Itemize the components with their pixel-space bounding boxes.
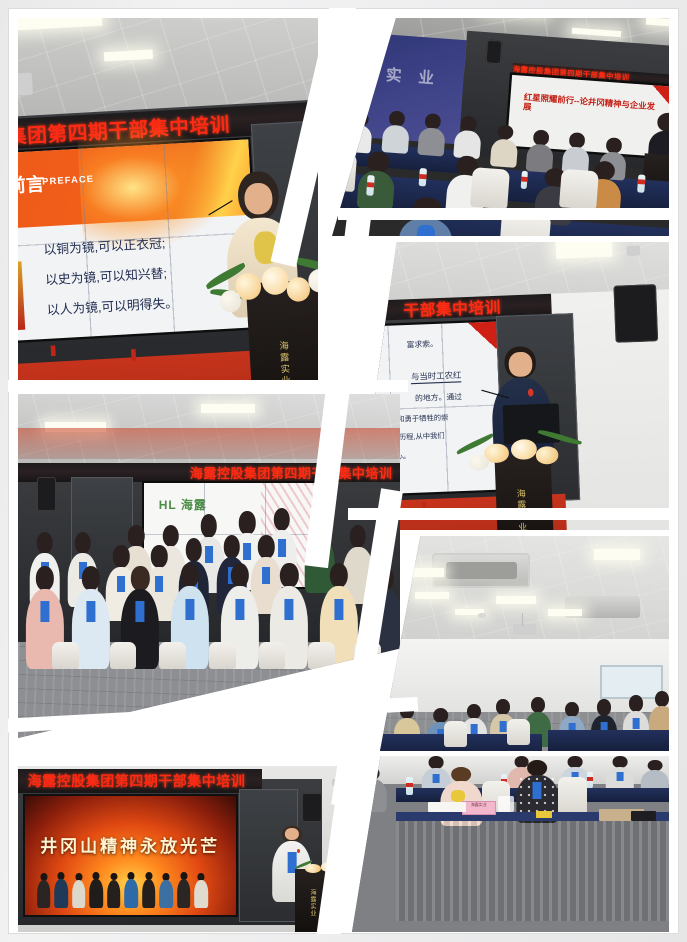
screen-calligraphy: 井冈山精神永放光芒	[37, 832, 223, 857]
led-banner-text: 海露控股集团第四期干部集中培训	[18, 771, 245, 791]
paper-cup	[498, 796, 514, 812]
brand-wall-logo: 海露实业	[332, 57, 452, 89]
chair	[470, 167, 509, 209]
chair	[259, 642, 286, 670]
chair	[159, 642, 186, 670]
chair	[507, 719, 530, 745]
ceiling-light	[403, 568, 443, 577]
attendee	[332, 118, 339, 164]
smartphone	[631, 811, 656, 822]
attendee	[345, 111, 374, 155]
chair	[332, 150, 357, 192]
wall-speaker	[302, 793, 322, 823]
ceiling-light	[415, 592, 450, 599]
students-scene: 海露实业	[352, 756, 669, 932]
chair	[209, 642, 236, 670]
led-banner-text: 海露控股集团第四期干部集中培训	[190, 463, 400, 482]
projection-title: 红星照耀前行--论井冈精神与企业发展	[523, 93, 660, 124]
water-bottle	[419, 168, 427, 187]
desk-name-sign: 海露实业	[463, 802, 495, 814]
ceiling-light	[201, 404, 254, 413]
classroom-scene	[380, 536, 669, 751]
floor-marker	[51, 345, 56, 356]
chair	[559, 168, 598, 210]
water-bottle	[406, 777, 413, 795]
flower-arrangement	[198, 239, 318, 332]
chair	[110, 642, 137, 670]
attendee	[357, 151, 398, 211]
panel-students-desks[interactable]: 海露实业	[352, 756, 669, 932]
audience-scene: 海露实业 海露控股集团第四期干部集中培训 红星照耀前行--论井冈精神与企业发展	[332, 18, 669, 236]
panel-divider	[8, 380, 408, 392]
presentation-screen: 井冈山精神永放光芒	[25, 796, 236, 916]
attendee	[381, 111, 410, 155]
ceiling-light	[496, 596, 536, 604]
chair	[444, 721, 467, 747]
chair	[558, 777, 587, 816]
security-camera	[626, 246, 640, 256]
slide-heading-cn: 前言	[18, 168, 45, 198]
wall-speaker	[614, 284, 658, 344]
attendee	[454, 116, 483, 160]
projector-mount	[522, 613, 524, 626]
wall-speaker	[485, 39, 503, 64]
photo-collage: 股集团第四期干部集中培训 前言 PREFACE 以铜为镜,可以正衣冠; 以史为镜…	[0, 0, 687, 942]
panel-audience-wide[interactable]: 海露实业 海露控股集团第四期干部集中培训 红星照耀前行--论井冈精神与企业发展	[332, 18, 669, 236]
desk-name-sign-text: 海露实业	[463, 802, 495, 808]
ceiling-ac-vent	[432, 553, 530, 587]
jinggangshan-scene: 海露控股集团第四期干部集中培训 井冈山精神永放光芒	[18, 766, 348, 932]
water-bottle	[638, 174, 646, 193]
attendee	[417, 113, 446, 157]
ceiling-light	[548, 609, 583, 615]
lecture-scene: 股集团第四期干部集中培训 前言 PREFACE 以铜为镜,可以正衣冠; 以史为镜…	[18, 18, 318, 386]
water-bottle	[587, 772, 593, 788]
led-banner: 海露控股集团第四期干部集中培训	[18, 769, 262, 792]
podium-plate: 海露实业	[309, 878, 315, 928]
wall-speaker	[37, 477, 56, 511]
attendee	[490, 124, 519, 168]
panel-divider	[338, 208, 678, 220]
panel-lecture-preface[interactable]: 股集团第四期干部集中培训 前言 PREFACE 以铜为镜,可以正衣冠; 以史为镜…	[18, 18, 318, 386]
projector	[513, 624, 536, 635]
skirted-table	[396, 812, 669, 921]
smoke-detector	[478, 613, 486, 617]
conference-table	[548, 730, 669, 752]
chair	[308, 642, 335, 670]
water-bottle	[366, 175, 375, 196]
collage-white-mat: 股集团第四期干部集中培训 前言 PREFACE 以铜为镜,可以正衣冠; 以史为镜…	[8, 8, 679, 934]
chair	[52, 642, 79, 670]
security-camera	[18, 73, 33, 96]
panel-jinggangshan[interactable]: 海露控股集团第四期干部集中培训 井冈山精神永放光芒	[18, 766, 348, 932]
ceiling-light	[556, 242, 613, 258]
panel-classroom-ceiling[interactable]	[380, 536, 669, 751]
sticky-note	[536, 811, 552, 818]
notebook	[428, 802, 466, 813]
flower-arrangement	[454, 422, 589, 485]
floor-marker	[131, 349, 136, 360]
ceiling-light	[594, 549, 640, 560]
